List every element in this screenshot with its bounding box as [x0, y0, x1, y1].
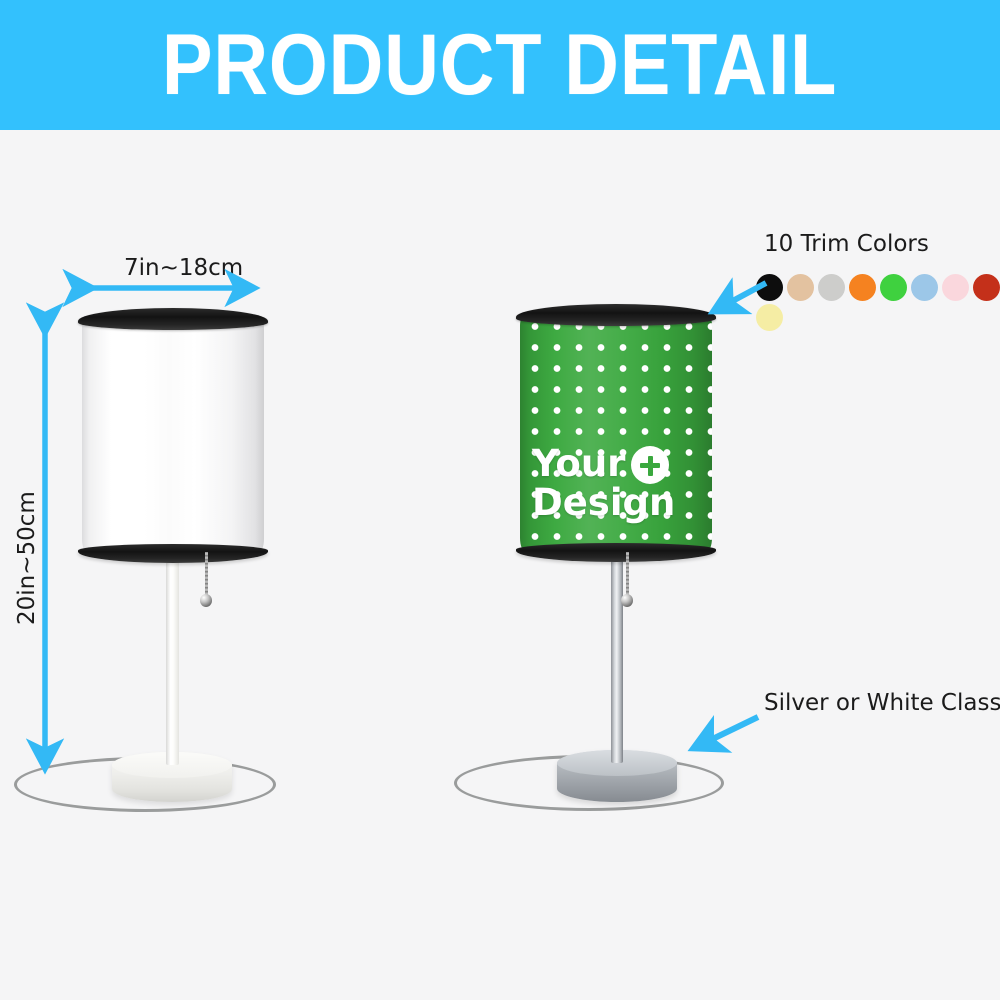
base-finish-label: Silver or White Classy — [764, 690, 1000, 716]
pull-chain-white[interactable] — [205, 552, 208, 600]
pull-chain-ball-green[interactable] — [621, 594, 633, 607]
design-placeholder: Your Design — [532, 445, 675, 522]
lamp-pole-white — [166, 560, 179, 765]
trim-color-swatch-tan[interactable] — [787, 274, 814, 301]
pull-chain-green[interactable] — [626, 552, 629, 600]
trim-color-swatch-light-gray[interactable] — [818, 274, 845, 301]
plus-circle-icon — [631, 446, 669, 484]
design-line-1-wrap: Your — [532, 445, 675, 484]
trim-color-swatch-grid — [756, 274, 1000, 331]
height-measure-label: 20in~50cm — [14, 491, 40, 625]
trim-color-swatch-orange[interactable] — [849, 274, 876, 301]
trim-color-swatch-dark-red[interactable] — [973, 274, 1000, 301]
width-measure-label: 7in~18cm — [124, 255, 243, 281]
design-line-2: Design — [532, 484, 675, 522]
lampshade-white-surface — [82, 315, 264, 553]
trim-color-swatch-black[interactable] — [756, 274, 783, 301]
lamp-white — [0, 0, 330, 1000]
lampshade-trim-bottom-green — [516, 543, 716, 562]
lampshade-green: Your Design — [520, 312, 712, 552]
trim-color-swatch-green[interactable] — [880, 274, 907, 301]
lamp-pole-silver — [611, 558, 623, 763]
trim-color-swatch-pale-yellow[interactable] — [756, 304, 783, 331]
trim-color-swatch-light-blue[interactable] — [911, 274, 938, 301]
trim-colors-group — [756, 274, 1000, 344]
lampshade-trim-top-white — [78, 308, 268, 330]
lampshade-trim-bottom-white — [78, 544, 268, 563]
design-line-1: Your — [532, 442, 625, 485]
trim-colors-title: 10 Trim Colors — [764, 231, 929, 257]
pull-chain-ball-white[interactable] — [200, 594, 212, 607]
lamp-green: Your Design — [430, 0, 780, 1000]
trim-color-swatch-pink[interactable] — [942, 274, 969, 301]
lampshade-white — [82, 315, 264, 553]
lampshade-trim-top-green — [516, 304, 716, 326]
product-detail-image: PRODUCT DETAIL — [0, 0, 1000, 1000]
